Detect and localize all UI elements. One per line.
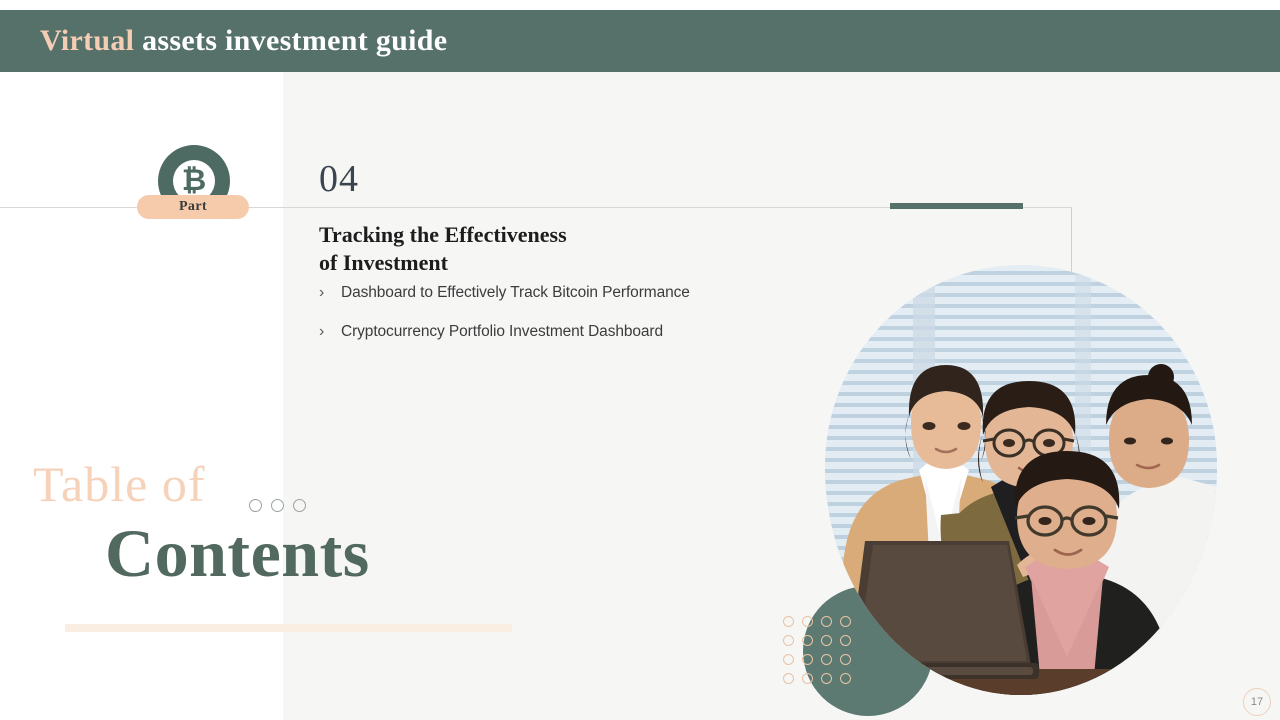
slide-canvas: Virtual assets investment guide ₿ Part 0… [0, 0, 1280, 720]
dot-circle-icon [821, 654, 832, 665]
dot-circle-icon [249, 499, 262, 512]
part-badge: Part [137, 195, 249, 219]
page-number-badge: 17 [1243, 688, 1271, 716]
page-number-label: 17 [1251, 696, 1263, 708]
dot-circle-icon [821, 673, 832, 684]
slide-header-bar: Virtual assets investment guide [0, 10, 1280, 72]
chevron-right-icon: › [319, 321, 341, 343]
list-item-label: Dashboard to Effectively Track Bitcoin P… [341, 282, 690, 304]
toc-dots-decoration [249, 499, 306, 512]
dot-circle-icon [802, 673, 813, 684]
bitcoin-symbol-icon: ₿ [182, 166, 206, 196]
dot-circle-icon [840, 673, 851, 684]
dot-circle-icon [802, 616, 813, 627]
page-title-accent: Virtual [40, 24, 134, 57]
section-title: Tracking the Effectiveness of Investment [319, 221, 567, 277]
list-item[interactable]: › Dashboard to Effectively Track Bitcoin… [319, 282, 879, 304]
dot-circle-icon [783, 654, 794, 665]
page-title: Virtual assets investment guide [40, 24, 447, 58]
chevron-right-icon: › [319, 282, 341, 304]
dot-circle-icon [821, 616, 832, 627]
list-item[interactable]: › Cryptocurrency Portfolio Investment Da… [319, 321, 879, 343]
section-number: 04 [319, 160, 359, 198]
dot-circle-icon [783, 673, 794, 684]
list-item-label: Cryptocurrency Portfolio Investment Dash… [341, 321, 663, 343]
dot-circle-icon [802, 654, 813, 665]
page-title-rest: assets investment guide [134, 24, 447, 57]
peach-accent-bar [65, 624, 512, 632]
toc-heading-line-two: Contents [105, 519, 370, 587]
dot-circle-icon [821, 635, 832, 646]
dot-circle-icon [840, 654, 851, 665]
dot-circle-icon [840, 616, 851, 627]
dot-circle-icon [840, 635, 851, 646]
dot-circle-icon [802, 635, 813, 646]
dot-circle-icon [783, 616, 794, 627]
dot-circle-icon [783, 635, 794, 646]
dot-circle-icon [293, 499, 306, 512]
left-white-panel [0, 72, 283, 720]
part-badge-label: Part [179, 199, 207, 215]
accent-rule [890, 203, 1023, 209]
dot-circle-icon [271, 499, 284, 512]
dot-grid-decoration [783, 616, 859, 692]
section-item-list: › Dashboard to Effectively Track Bitcoin… [319, 282, 879, 360]
toc-heading-line-one: Table of [33, 459, 205, 509]
